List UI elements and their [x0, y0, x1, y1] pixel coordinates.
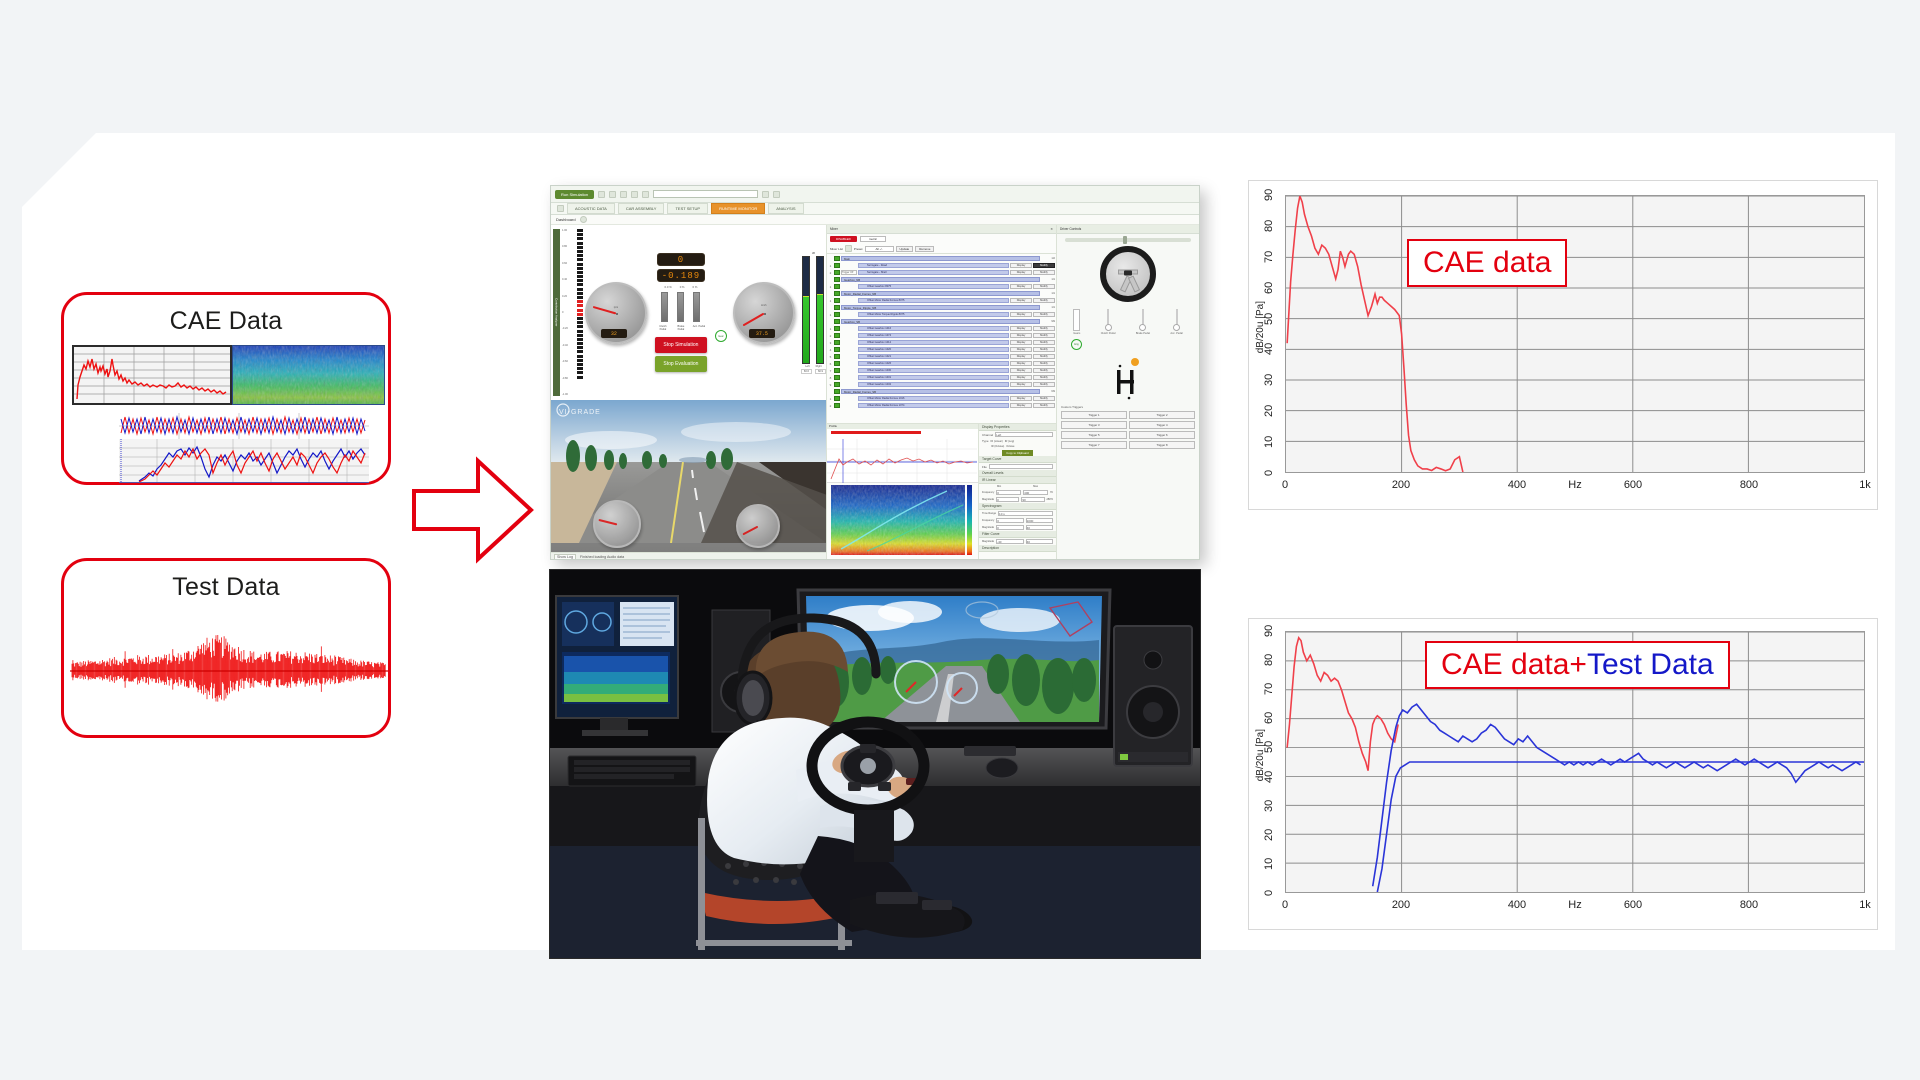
- driver-controls-slider[interactable]: [1065, 238, 1191, 242]
- ir-magnitude-min[interactable]: 0: [996, 497, 1019, 502]
- ir-frequency-max[interactable]: 400: [1023, 490, 1048, 495]
- driver-controls-title: Driver Controls: [1057, 225, 1199, 234]
- software-toolbar[interactable]: Run Simulation: [551, 186, 1199, 203]
- channel-modify-button[interactable]: Modify: [1033, 340, 1055, 345]
- cae-data-card-title: CAE Data: [64, 307, 388, 336]
- file-label: File: [982, 465, 987, 469]
- software-main-tabs[interactable]: ACOUSTIC DATA CAR ASSEMBLY TEST SETUP RU…: [551, 203, 1199, 215]
- status-text: Finished loading Audio data: [580, 555, 624, 559]
- channel-modify-button[interactable]: Modify: [1033, 368, 1055, 373]
- y-tick-label: 90: [1263, 183, 1275, 207]
- fc-magnitude-max[interactable]: 40: [1026, 539, 1053, 544]
- channel-display-button[interactable]: Display: [1010, 284, 1032, 289]
- simulation-software-window[interactable]: Run Simulation ACOUSTIC DATA CAR ASSEMBL…: [550, 185, 1200, 560]
- channel-enable-checkbox[interactable]: [834, 263, 840, 268]
- series-test-data-flat-reference-: [1377, 762, 1864, 892]
- channel-display-button[interactable]: Display: [1010, 368, 1032, 373]
- series-cae-data: [1287, 196, 1463, 472]
- y-tick-label: 50: [1263, 735, 1275, 759]
- mixer-group-row[interactable]: Main1/2: [827, 255, 1056, 262]
- side-monitor: [556, 596, 678, 736]
- vehicle-speed-gauge: km/h 37.5: [733, 282, 795, 344]
- ir-frequency-label: Frequency: [982, 491, 994, 494]
- software-status-bar: Show Log Finished loading Audio data: [551, 552, 826, 560]
- mixer-window-titlebar: Mixer ✕: [827, 225, 1056, 234]
- h-pattern-gearstick-icon[interactable]: [1057, 356, 1199, 401]
- speed-gauge-unit: km/h: [761, 304, 766, 307]
- mixer-record-row: DISABLED metric: [827, 234, 1056, 244]
- channel-enable-checkbox[interactable]: [834, 403, 840, 408]
- mixer-channel-row[interactable]: 4Offset Gearbox 1020DisplayModify: [827, 346, 1056, 353]
- gear-readout: 0: [657, 253, 705, 266]
- mixer-channel-row[interactable]: 6Offset Gearbox 1026DisplayModify: [827, 360, 1056, 367]
- mixer-group-row[interactable]: Gearbox_NB1/1: [827, 276, 1056, 283]
- tab-test-setup[interactable]: TEST SETUP: [667, 203, 708, 214]
- mixer-close-icon[interactable]: ✕: [1050, 227, 1053, 231]
- channel-enable-checkbox[interactable]: [834, 347, 840, 352]
- channel-display-button[interactable]: Display: [1010, 361, 1032, 366]
- mixer-metric-combo[interactable]: metric: [860, 236, 886, 242]
- x-tick-label: 400: [1497, 899, 1537, 911]
- channel-modify-button[interactable]: Modify: [1033, 354, 1055, 359]
- pedal-values: 0.0 % 0 % 0 %: [665, 285, 698, 289]
- y-tick-label: 10: [1263, 852, 1275, 876]
- mixer-channel-row[interactable]: 7Offset Gearbox 1030DisplayModify: [827, 367, 1056, 374]
- pin-icon[interactable]: [557, 205, 564, 212]
- section-spectrogram[interactable]: Spectrogram: [979, 503, 1056, 510]
- x-tick-label: 1k: [1845, 899, 1885, 911]
- channel-modify-button[interactable]: Modify: [1033, 270, 1055, 275]
- y-tick-label: 80: [1263, 214, 1275, 238]
- cae-data-card: CAE Data: [61, 292, 391, 485]
- test-data-card: Test Data: [61, 558, 391, 738]
- channel-modify-button[interactable]: Modify: [1033, 284, 1055, 289]
- dashboard-center-stack: 0 -0.189 0.0 % 0 % 0 %: [653, 253, 709, 372]
- channel-display-button[interactable]: Display: [1010, 396, 1032, 401]
- channel-enable-checkbox[interactable]: [834, 270, 840, 275]
- save-icon[interactable]: [598, 191, 605, 198]
- profile-curve-plot: [827, 429, 978, 483]
- x-tick-label: 400: [1497, 479, 1537, 491]
- x-tick-label: 600: [1613, 899, 1653, 911]
- mixer-group-row[interactable]: Motor_Radial_Forces_NB1/1: [827, 290, 1056, 297]
- test-data-waveform: [70, 617, 388, 725]
- channel-enable-checkbox[interactable]: [834, 340, 840, 345]
- x-tick-label: 0: [1265, 479, 1305, 491]
- custom-trigger-button[interactable]: Trigger 8: [1129, 441, 1195, 449]
- section-filter-curve[interactable]: Filter Curve: [979, 531, 1056, 538]
- vu-meter-left: [802, 256, 810, 364]
- type-label: Type: [982, 439, 989, 443]
- vu-unit-label: dB: [812, 252, 815, 255]
- y-tick-label: 80: [1263, 648, 1275, 672]
- cae-spectrogram-heatmap: [232, 345, 385, 405]
- speed-gauge-readout: 37.5: [749, 329, 775, 338]
- section-ir-linear[interactable]: IR Linear: [979, 477, 1056, 484]
- pedal-labels: Clutch Pedal Brake Pedal Acc. Pedal: [656, 325, 706, 331]
- channel-modify-button[interactable]: Modify: [1033, 361, 1055, 366]
- channel-display-button[interactable]: Display: [1010, 347, 1032, 352]
- display-properties-title: Display Properties: [979, 424, 1056, 431]
- custom-triggers-title: Custom Triggers: [1061, 405, 1195, 409]
- channel-label: Channel: [982, 433, 993, 437]
- run-simulation-button[interactable]: Run Simulation: [555, 190, 594, 199]
- sg-magnitude-label: Magnitude: [982, 526, 994, 529]
- flow-arrow-right-icon: [410, 455, 535, 565]
- engine-gauge-readout: 32: [601, 329, 627, 338]
- channel-enable-checkbox[interactable]: [834, 361, 840, 366]
- sg-frequency-min[interactable]: 0: [996, 518, 1023, 523]
- pedal-bars: [661, 292, 700, 322]
- clutch-pedal-bar: [661, 292, 668, 322]
- mixer-column: Mixer ✕ DISABLED metric Mixer List Prese…: [827, 225, 1057, 560]
- group-enable-checkbox[interactable]: [834, 319, 840, 324]
- test-data-card-title: Test Data: [64, 573, 388, 602]
- channel-display-button[interactable]: Display: [1010, 354, 1032, 359]
- accelerator-pedal-control[interactable]: Acc. Pedal: [1170, 309, 1182, 335]
- custom-trigger-button[interactable]: Trigger 5: [1061, 431, 1127, 439]
- mixer-group-row[interactable]: Gearbox_SB9/9: [827, 318, 1056, 325]
- custom-trigger-button[interactable]: Trigger 3: [1061, 421, 1127, 429]
- clutch-pedal-control[interactable]: Clutch Pedal: [1101, 309, 1116, 335]
- refresh-icon[interactable]: [580, 216, 587, 223]
- y-tick-label: 30: [1263, 794, 1275, 818]
- stop-evaluation-button[interactable]: Stop Evaluation: [655, 356, 707, 372]
- vu-meter-right: [816, 256, 824, 364]
- y-tick-label: 40: [1263, 765, 1275, 789]
- mixer-channel-row[interactable]: 2Offset Motor Radial Forces 1074DisplayM…: [827, 402, 1056, 409]
- tab-car-assembly[interactable]: CAR ASSEMBLY: [618, 203, 665, 214]
- mixer-update-button[interactable]: Update: [896, 246, 914, 252]
- slide-root: CAE Data: [0, 0, 1920, 1080]
- channel-modify-button[interactable]: Modify: [1033, 298, 1055, 303]
- y-tick-label: 40: [1263, 337, 1275, 361]
- y-tick-label: 30: [1263, 368, 1275, 392]
- y-tick-label: 90: [1263, 619, 1275, 643]
- group-enable-checkbox[interactable]: [834, 305, 840, 310]
- x-axis-unit-label: Hz: [1555, 899, 1595, 911]
- channel-modify-button[interactable]: Modify: [1033, 333, 1055, 338]
- mixer-preset-combo[interactable]: All -/-: [865, 246, 894, 252]
- mixer-remove-button[interactable]: Remove: [915, 246, 934, 252]
- dashboard-column: Contribution Analyzer 1.00 0.80 0.60 0.4…: [551, 225, 827, 560]
- group-enable-checkbox[interactable]: [834, 291, 840, 296]
- channel-display-button[interactable]: Display: [1010, 375, 1032, 380]
- group-enable-checkbox[interactable]: [834, 389, 840, 394]
- mixer-group-row[interactable]: Motor_Radial_Forces_SB6/9: [827, 388, 1056, 395]
- cae-data-callout: CAE data: [1407, 239, 1567, 287]
- y-tick-label: 20: [1263, 823, 1275, 847]
- ir-frequency-min[interactable]: 0: [996, 490, 1021, 495]
- y-tick-label: 70: [1263, 677, 1275, 701]
- driver-controls-column: Driver Controls Gears: [1057, 225, 1199, 560]
- gears-control[interactable]: Gears: [1073, 309, 1080, 335]
- x-tick-label: 1k: [1845, 479, 1885, 491]
- channel-modify-button[interactable]: Modify: [1033, 312, 1055, 317]
- mixer-channel-row[interactable]: 1Offset Motor Radial Forces 1016DisplayM…: [827, 395, 1056, 402]
- x-tick-label: 800: [1729, 479, 1769, 491]
- channel-display-button[interactable]: Display: [1010, 270, 1032, 275]
- pointer-icon[interactable]: [642, 191, 649, 198]
- channel-enable-checkbox[interactable]: [834, 368, 840, 373]
- ir-frequency-unit: Hz: [1050, 491, 1053, 494]
- runtime-dashboard: Contribution Analyzer 1.00 0.80 0.60 0.4…: [551, 225, 826, 400]
- channel-enable-checkbox[interactable]: [834, 298, 840, 303]
- y-tick-label: 20: [1263, 399, 1275, 423]
- tab-analysis[interactable]: ANALYSIS: [768, 203, 803, 214]
- type-option-1[interactable]: IR (Log): [1005, 440, 1014, 443]
- channel-enable-checkbox[interactable]: [834, 326, 840, 331]
- mixer-channel-row[interactable]: 1Offset Gearbox 8075DisplayModify: [827, 283, 1056, 290]
- section-description[interactable]: Description: [979, 545, 1056, 552]
- channel-display-button[interactable]: Display: [1010, 312, 1032, 317]
- group-enable-checkbox[interactable]: [834, 256, 840, 261]
- channel-modify-button[interactable]: Modify: [1033, 263, 1055, 268]
- channel-display-button[interactable]: Display: [1010, 403, 1032, 408]
- y-tick-label: 50: [1263, 307, 1275, 331]
- engine-speed-gauge: rpm 32: [585, 282, 647, 344]
- cae-plus-test-chart: dB/20u [Pa] 0102030405060708090 02004006…: [1248, 618, 1878, 930]
- y-tick-label: 60: [1263, 276, 1275, 300]
- ir-magnitude-unit: dB/Hz: [1047, 498, 1054, 501]
- cae-only-chart: dB/20u [Pa] 0102030405060708090 02004006…: [1248, 180, 1878, 510]
- overlay-rpm-gauge: [593, 500, 641, 548]
- mixer-channel-row[interactable]: 1Offset Motor Torque Ripple 8075DisplayM…: [827, 311, 1056, 318]
- mixer-channel-row[interactable]: 2Trigger OffSurrogate - ShellDisplayModi…: [827, 269, 1056, 276]
- custom-triggers-panel[interactable]: Custom Triggers Trigger 1Trigger 2Trigge…: [1057, 405, 1199, 449]
- group-enable-checkbox[interactable]: [834, 277, 840, 282]
- mixer-channel-row[interactable]: 5Offset Gearbox 1021DisplayModify: [827, 353, 1056, 360]
- x-tick-label: 800: [1729, 899, 1769, 911]
- mixer-window-title: Mixer: [830, 227, 838, 231]
- x-tick-label: 200: [1381, 899, 1421, 911]
- software-body: Contribution Analyzer 1.00 0.80 0.60 0.4…: [551, 225, 1199, 560]
- analysis-strip: Profile: [827, 423, 1056, 560]
- engine-toggle-icon[interactable]: Eng: [1071, 339, 1082, 350]
- brake-pedal-control[interactable]: Brake Pedal: [1136, 309, 1150, 335]
- accelerator-pedal-bar: [693, 292, 700, 322]
- channel-display-button[interactable]: Display: [1010, 298, 1032, 303]
- engine-gauge-unit: rpm: [614, 306, 618, 309]
- vu-channel-labels: Left Right: [805, 365, 821, 368]
- format-list-combo[interactable]: [653, 190, 758, 198]
- cae-comparison-plot: [119, 439, 369, 483]
- channel-enable-checkbox[interactable]: [834, 354, 840, 359]
- side-tab-contribution-analyzer[interactable]: Contribution Analyzer: [553, 229, 560, 396]
- channel-display-button[interactable]: Display: [1010, 382, 1032, 387]
- time-range-label: Time Range: [982, 512, 996, 515]
- section-overall-levels[interactable]: Overall Levels: [979, 470, 1056, 477]
- undo-icon[interactable]: [620, 191, 627, 198]
- tab-runtime-monitor[interactable]: RUNTIME MONITOR: [711, 203, 765, 214]
- mixer-channel-row[interactable]: 2Offset Gearbox 1074DisplayModify: [827, 332, 1056, 339]
- fc-magnitude-min[interactable]: -40: [996, 539, 1023, 544]
- sg-magnitude-min[interactable]: 0: [996, 525, 1023, 530]
- channel-display-button[interactable]: Display: [1010, 333, 1032, 338]
- channel-enable-checkbox[interactable]: [834, 382, 840, 387]
- copy-icon[interactable]: [609, 191, 616, 198]
- x-tick-label: 600: [1613, 479, 1653, 491]
- mixer-preset-label: Preset: [854, 247, 863, 251]
- section-target-curve[interactable]: Target Curve: [979, 456, 1056, 463]
- channel-modify-button[interactable]: Modify: [1033, 403, 1055, 408]
- custom-trigger-button[interactable]: Trigger 2: [1129, 411, 1195, 419]
- channel-modify-button[interactable]: Modify: [1033, 382, 1055, 387]
- channel-enable-checkbox[interactable]: [834, 284, 840, 289]
- level-meters: dB Left Right: [801, 252, 826, 374]
- custom-trigger-button[interactable]: Trigger 7: [1061, 441, 1127, 449]
- simulator-photograph: [550, 570, 1200, 958]
- channel-display-button[interactable]: Display: [1010, 326, 1032, 331]
- custom-trigger-button[interactable]: Trigger 4: [1129, 421, 1195, 429]
- subtab-dashboard[interactable]: Dashboard: [556, 217, 576, 222]
- channel-display-button[interactable]: Display: [1010, 263, 1032, 268]
- channel-modify-button[interactable]: Modify: [1033, 326, 1055, 331]
- custom-trigger-button[interactable]: Trigger 6: [1129, 431, 1195, 439]
- mixer-list-toolbar[interactable]: Mixer List Preset All -/- Update Remove: [827, 244, 1056, 254]
- y-tick-label: 60: [1263, 706, 1275, 730]
- series-test-data: [1373, 704, 1861, 886]
- mixer-record-button[interactable]: DISABLED: [830, 236, 857, 242]
- channel-modify-button[interactable]: Modify: [1033, 347, 1055, 352]
- cae-spectrum-plot: [72, 345, 232, 405]
- type-option-0[interactable]: IR (Linear): [991, 440, 1003, 443]
- max-header: Max: [1033, 485, 1038, 488]
- sg-magnitude-max[interactable]: 40: [1026, 525, 1053, 530]
- ir-magnitude-label: Magnitude: [982, 498, 994, 501]
- overlay-speed-gauge: [736, 504, 780, 548]
- tab-acoustic-data[interactable]: ACOUSTIC DATA: [567, 203, 615, 214]
- channel-select[interactable]: Left: [995, 432, 1053, 437]
- type-option-3[interactable]: Octave: [1006, 445, 1014, 448]
- channel-modify-button[interactable]: Modify: [1033, 396, 1055, 401]
- redo-icon[interactable]: [631, 191, 638, 198]
- y-tick-label: 10: [1263, 430, 1275, 454]
- channel-enable-checkbox[interactable]: [834, 375, 840, 380]
- fc-magnitude-label: Magnitude: [982, 540, 994, 543]
- mixer-channel-row[interactable]: 8Offset Gearbox 1031DisplayModify: [827, 374, 1056, 381]
- driving-simulator-view: VI-GRADE: [551, 400, 826, 552]
- steering-readout: -0.189: [657, 269, 705, 282]
- ir-magnitude-max[interactable]: 90: [1021, 497, 1044, 502]
- cae-order-traces: [119, 413, 369, 439]
- steering-wheel-icon[interactable]: [1100, 246, 1156, 302]
- mixer-channel-row[interactable]: 1Offset Motor Radial Forces 8075DisplayM…: [827, 297, 1056, 304]
- contribution-analyzer-strip: Contribution Analyzer 1.00 0.80 0.60 0.4…: [553, 229, 583, 396]
- mixer-group-row[interactable]: Motor_Torque_Ripple_NB1/1: [827, 304, 1056, 311]
- copy-to-clipboard-button[interactable]: Copy to Clipboard: [1002, 450, 1032, 456]
- mixer-channel-row[interactable]: 3Offset Gearbox 1012DisplayModify: [827, 339, 1056, 346]
- software-subtab-bar[interactable]: Dashboard: [551, 215, 1199, 225]
- channel-enable-checkbox[interactable]: [834, 333, 840, 338]
- chart-top-plot-area: [1285, 195, 1865, 473]
- y-tick-label: 70: [1263, 245, 1275, 269]
- mixer-channel-row[interactable]: 1Offset Gearbox 1016DisplayModify: [827, 325, 1056, 332]
- time-range-select[interactable]: 10 s: [998, 511, 1053, 516]
- mixer-channel-list[interactable]: Main1/21Surrogate - RoadDisplayModify2Tr…: [827, 254, 1056, 423]
- mixer-list-label: Mixer List: [830, 247, 843, 251]
- series-cae-data: [1287, 638, 1398, 771]
- engine-status-icon[interactable]: Gear: [715, 330, 727, 342]
- min-header: Min: [997, 485, 1001, 488]
- sg-frequency-label: Frequency: [982, 519, 994, 522]
- stop-simulation-button[interactable]: Stop Simulation: [655, 337, 707, 353]
- spectrogram-plot: [827, 483, 978, 560]
- x-tick-label: 200: [1381, 479, 1421, 491]
- channel-modify-button[interactable]: Modify: [1033, 375, 1055, 380]
- edit-icon[interactable]: [762, 191, 769, 198]
- help-icon[interactable]: [773, 191, 780, 198]
- x-axis-unit-label: Hz: [1555, 479, 1595, 491]
- contribution-ladder-bar: [577, 229, 583, 396]
- x-tick-label: 0: [1265, 899, 1305, 911]
- contribution-scale-labels: 1.00 0.80 0.60 0.40 0.20 0 -0.20 -0.40 -…: [560, 229, 577, 396]
- cae-plus-test-callout: CAE data + Test Data: [1425, 641, 1730, 689]
- show-log-button[interactable]: Show Log: [554, 554, 576, 560]
- cae-spectrum-and-heatmap: [72, 345, 385, 405]
- brake-pedal-bar: [677, 292, 684, 322]
- sg-frequency-max[interactable]: 1000: [1026, 518, 1053, 523]
- file-input[interactable]: [989, 464, 1053, 469]
- display-properties-panel[interactable]: Display Properties Channel Left Type IR …: [978, 424, 1056, 560]
- type-option-2[interactable]: IR (Octave): [991, 445, 1004, 448]
- mixer-channel-row[interactable]: 1Surrogate - RoadDisplayModify: [827, 262, 1056, 269]
- custom-trigger-button[interactable]: Trigger 1: [1061, 411, 1127, 419]
- driver-control-sliders[interactable]: Gears Clutch Pedal Brake Pedal Acc. Peda…: [1057, 309, 1199, 335]
- mixer-grid-icon[interactable]: [845, 245, 852, 252]
- studio-speaker: [1114, 626, 1192, 766]
- mixer-channel-row[interactable]: 9Offset Gearbox 1032DisplayModify: [827, 381, 1056, 388]
- channel-enable-checkbox[interactable]: [834, 396, 840, 401]
- vu-channel-values: 60.6 60.9: [801, 369, 826, 374]
- channel-display-button[interactable]: Display: [1010, 340, 1032, 345]
- channel-enable-checkbox[interactable]: [834, 312, 840, 317]
